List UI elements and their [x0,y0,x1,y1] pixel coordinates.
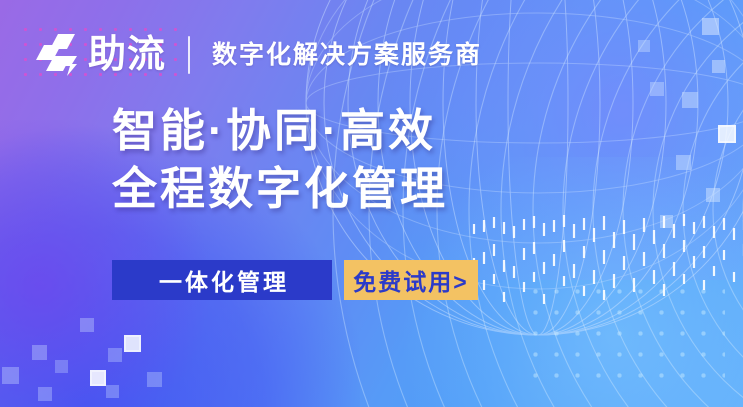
flow-lightning-logo-icon [30,32,82,78]
promo-banner: 助流 数字化解决方案服务商 智能·协同·高效 全程数字化管理 一体化管理 免费试… [0,0,743,407]
headline-line-1: 智能·协同·高效 [112,102,448,160]
brand-header: 助流 数字化解决方案服务商 [30,28,482,82]
free-trial-button[interactable]: 免费试用> [344,260,478,300]
brand-tagline: 数字化解决方案服务商 [212,43,482,68]
headline-line-2: 全程数字化管理 [112,160,448,218]
header-divider [188,36,190,74]
brand-name: 助流 [88,36,166,74]
action-row: 一体化管理 免费试用> [112,260,478,300]
integrated-management-button[interactable]: 一体化管理 [112,260,332,300]
headline-block: 智能·协同·高效 全程数字化管理 [112,102,448,217]
